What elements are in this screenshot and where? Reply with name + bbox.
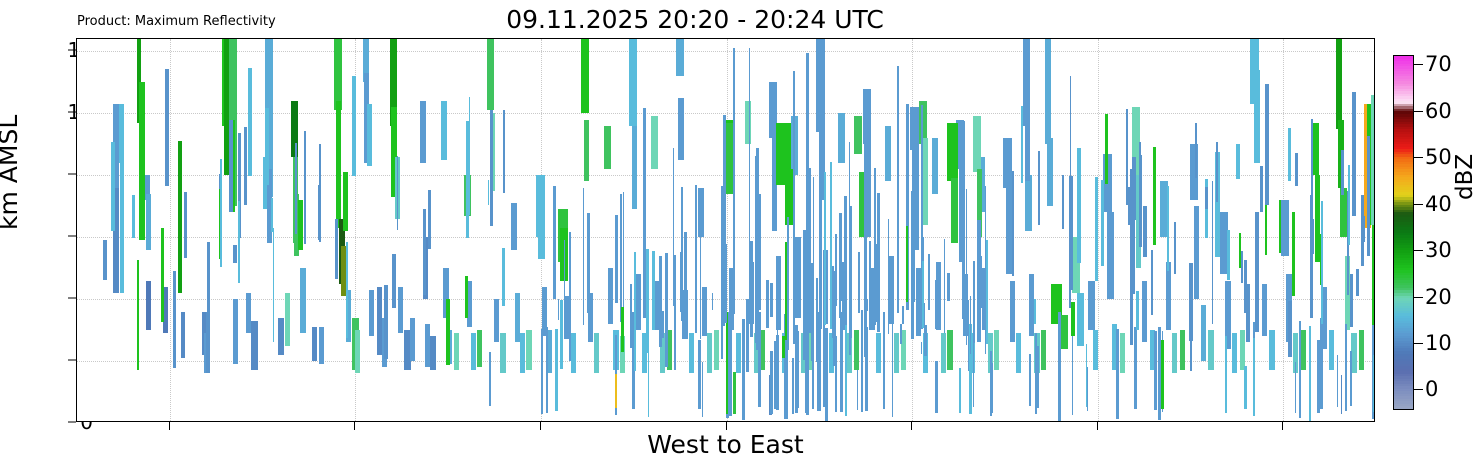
y-tick-mark xyxy=(68,236,76,237)
reflectivity-cell xyxy=(623,192,625,324)
reflectivity-cell xyxy=(538,188,544,259)
reflectivity-cell xyxy=(1077,293,1083,346)
colorbar-tick-mark xyxy=(1414,64,1423,65)
reflectivity-cell xyxy=(584,120,589,182)
reflectivity-cell xyxy=(785,242,787,339)
reflectivity-cell xyxy=(477,330,482,367)
reflectivity-cell xyxy=(889,256,894,324)
colorbar-tick-label: 30 xyxy=(1425,238,1452,262)
reflectivity-cell xyxy=(700,229,702,339)
reflectivity-cell xyxy=(1174,222,1176,274)
reflectivity-cell xyxy=(178,141,182,293)
reflectivity-cell xyxy=(487,39,493,110)
reflectivity-cell xyxy=(1310,195,1313,318)
reflectivity-cell xyxy=(420,101,426,163)
reflectivity-cell xyxy=(384,285,388,359)
reflectivity-cell xyxy=(1288,128,1291,182)
reflectivity-cell xyxy=(319,327,324,364)
reflectivity-cell xyxy=(665,253,668,367)
reflectivity-cell xyxy=(1070,76,1072,177)
reflectivity-cell xyxy=(1232,333,1237,373)
colorbar-tick-mark xyxy=(1414,297,1423,298)
reflectivity-cell xyxy=(248,68,252,176)
reflectivity-cell xyxy=(1012,171,1014,276)
reflectivity-cell xyxy=(928,254,929,310)
reflectivity-cell xyxy=(726,312,728,414)
reflectivity-cell xyxy=(770,283,773,318)
reflectivity-cell xyxy=(423,209,427,295)
reflectivity-cell xyxy=(397,156,398,230)
reflectivity-cell xyxy=(620,194,622,322)
reflectivity-cell xyxy=(787,217,789,301)
radar-cross-section-plot[interactable] xyxy=(76,38,1375,422)
colorbar-tick-mark xyxy=(1414,111,1423,112)
reflectivity-cell xyxy=(1036,346,1039,408)
reflectivity-cell xyxy=(1320,318,1323,409)
reflectivity-cell xyxy=(966,189,967,345)
reflectivity-cell xyxy=(615,215,618,302)
reflectivity-cell xyxy=(1034,299,1036,324)
reflectivity-cell xyxy=(695,185,697,333)
reflectivity-cell xyxy=(229,120,233,212)
reflectivity-cell xyxy=(935,280,938,330)
reflectivity-cell xyxy=(652,251,654,330)
reflectivity-cell xyxy=(1101,180,1103,266)
x-tick-mark xyxy=(354,422,355,430)
reflectivity-cell xyxy=(583,188,584,325)
reflectivity-cell xyxy=(560,300,563,369)
reflectivity-cell xyxy=(466,121,468,237)
reflectivity-cell xyxy=(844,196,846,326)
reflectivity-cell xyxy=(1260,166,1263,212)
reflectivity-cell xyxy=(346,242,348,338)
reflectivity-cell xyxy=(888,219,889,335)
reflectivity-cell xyxy=(441,101,447,160)
reflectivity-cell xyxy=(526,330,531,370)
reflectivity-cell xyxy=(494,299,499,342)
reflectivity-cell xyxy=(793,71,795,343)
reflectivity-cell xyxy=(184,192,186,258)
reflectivity-cell xyxy=(1142,281,1147,343)
reflectivity-cell xyxy=(902,306,904,324)
colorbar-tick-mark xyxy=(1414,157,1423,158)
reflectivity-cell xyxy=(1010,281,1015,343)
reflectivity-cell xyxy=(857,370,858,411)
reflectivity-cell xyxy=(1153,147,1155,245)
reflectivity-cell xyxy=(1095,177,1098,280)
reflectivity-cell xyxy=(1329,330,1334,370)
reflectivity-cell xyxy=(137,260,140,369)
reflectivity-cell xyxy=(858,252,860,313)
reflectivity-cell xyxy=(278,318,283,355)
reflectivity-cell xyxy=(702,287,707,337)
reflectivity-cell xyxy=(318,185,321,240)
reflectivity-cell xyxy=(587,213,590,313)
reflectivity-cell xyxy=(430,336,435,370)
reflectivity-cell xyxy=(244,127,246,204)
reflectivity-cell xyxy=(1236,144,1240,179)
reflectivity-cell xyxy=(1136,291,1139,330)
reflectivity-cell xyxy=(985,186,987,355)
reflectivity-cell xyxy=(838,113,844,163)
reflectivity-cell xyxy=(1058,312,1061,422)
reflectivity-cell xyxy=(935,361,938,412)
reflectivity-cell xyxy=(1069,176,1073,291)
reflectivity-cell xyxy=(900,324,903,344)
reflectivity-cell xyxy=(146,281,151,331)
reflectivity-cell xyxy=(973,261,975,343)
reflectivity-cell xyxy=(707,333,712,373)
reflectivity-cell xyxy=(1025,120,1030,182)
reflectivity-cell xyxy=(845,312,846,417)
reflectivity-cell xyxy=(746,299,749,372)
reflectivity-cell xyxy=(139,82,144,240)
reflectivity-cell xyxy=(673,148,674,306)
reflectivity-cell xyxy=(604,126,610,169)
reflectivity-cell xyxy=(1003,138,1012,188)
reflectivity-cell xyxy=(962,275,964,319)
reflectivity-cell xyxy=(1372,225,1375,330)
reflectivity-cell xyxy=(500,333,505,373)
reflectivity-cell xyxy=(725,123,733,194)
reflectivity-cell xyxy=(944,239,946,332)
reflectivity-cell xyxy=(947,123,957,182)
y-tick-mark xyxy=(68,174,76,175)
reflectivity-cell xyxy=(894,333,899,373)
x-tick-mark xyxy=(169,422,170,430)
x-tick-mark xyxy=(1097,422,1098,430)
reflectivity-cell xyxy=(1336,39,1342,129)
x-tick-mark xyxy=(540,422,541,430)
reflectivity-cell xyxy=(1190,304,1192,370)
x-tick-mark xyxy=(1282,422,1283,430)
reflectivity-cell xyxy=(1180,330,1185,370)
reflectivity-cell xyxy=(165,69,169,186)
reflectivity-cell xyxy=(119,104,124,163)
reflectivity-cell xyxy=(369,290,374,336)
reflectivity-cell xyxy=(795,237,800,318)
reflectivity-cell xyxy=(854,330,859,370)
reflectivity-cell xyxy=(1172,333,1177,373)
reflectivity-cell xyxy=(1262,284,1267,337)
reflectivity-cell xyxy=(146,194,151,250)
colorbar xyxy=(1393,55,1414,410)
reflectivity-cell xyxy=(806,355,808,412)
reflectivity-cell xyxy=(733,48,734,313)
reflectivity-cell xyxy=(1371,95,1375,225)
reflectivity-cell xyxy=(1216,142,1218,201)
reflectivity-cell xyxy=(1241,251,1243,283)
reflectivity-cell xyxy=(1295,362,1297,413)
reflectivity-cell xyxy=(446,299,450,366)
reflectivity-cell xyxy=(161,228,164,322)
reflectivity-cell xyxy=(813,177,814,299)
reflectivity-cell xyxy=(689,333,694,373)
reflectivity-cell xyxy=(1255,212,1259,332)
reflectivity-cell xyxy=(581,39,589,113)
reflectivity-cell xyxy=(569,232,570,360)
reflectivity-cell xyxy=(849,142,850,310)
reflectivity-cell xyxy=(833,271,836,366)
reflectivity-cell xyxy=(684,232,687,328)
reflectivity-cell xyxy=(285,293,290,346)
reflectivity-cell xyxy=(103,240,107,280)
reflectivity-cell xyxy=(947,330,952,370)
reflectivity-cell xyxy=(1373,355,1375,412)
reflectivity-cell xyxy=(759,194,761,310)
reflectivity-cell xyxy=(990,351,992,417)
y-tick-mark xyxy=(68,298,76,299)
reflectivity-cell xyxy=(1208,330,1213,370)
reflectivity-cell xyxy=(1240,330,1245,370)
reflectivity-cell xyxy=(1093,330,1098,370)
reflectivity-cell xyxy=(712,293,713,310)
reflectivity-cell xyxy=(698,340,701,409)
reflectivity-cell xyxy=(830,162,832,329)
reflectivity-cell xyxy=(816,39,825,132)
reflectivity-cell xyxy=(736,333,741,373)
reflectivity-cell xyxy=(1047,138,1052,206)
reflectivity-cell xyxy=(206,312,210,373)
reflectivity-cell xyxy=(910,107,919,150)
reflectivity-cell xyxy=(876,244,878,322)
reflectivity-cell xyxy=(454,333,459,370)
reflectivity-cell xyxy=(994,330,999,370)
reflectivity-cell xyxy=(932,138,938,194)
reflectivity-cell xyxy=(541,329,543,413)
reflectivity-cell xyxy=(1035,333,1037,413)
reflectivity-cell xyxy=(968,300,969,371)
reflectivity-cell xyxy=(678,98,683,160)
reflectivity-cell xyxy=(1295,153,1297,186)
reflectivity-cell xyxy=(1045,39,1051,144)
reflectivity-cell xyxy=(1350,274,1353,328)
reflectivity-cell xyxy=(864,132,867,357)
colorbar-tick-label: 10 xyxy=(1425,331,1452,355)
reflectivity-cell xyxy=(547,330,552,373)
reflectivity-cell xyxy=(959,368,962,414)
reflectivity-cell xyxy=(615,374,617,408)
x-tick-mark xyxy=(911,422,912,430)
reflectivity-cell xyxy=(854,116,862,153)
reflectivity-cell xyxy=(923,138,928,225)
reflectivity-cell xyxy=(1151,250,1153,314)
reflectivity-cell xyxy=(1161,340,1164,409)
reflectivity-cell xyxy=(428,190,432,249)
colorbar-tick-label: 50 xyxy=(1425,145,1452,169)
reflectivity-cell xyxy=(816,278,818,362)
reflectivity-cell xyxy=(410,318,415,361)
reflectivity-cell xyxy=(906,226,908,302)
reflectivity-cell xyxy=(1254,70,1260,163)
reflectivity-cell xyxy=(1134,327,1137,409)
reflectivity-cell xyxy=(1126,109,1128,205)
reflectivity-cell xyxy=(1359,330,1364,370)
reflectivity-cell xyxy=(367,104,372,166)
reflectivity-cell xyxy=(295,143,297,233)
reflectivity-cell xyxy=(335,219,338,279)
colorbar-tick-mark xyxy=(1414,250,1423,251)
colorbar-tick-mark xyxy=(1414,389,1423,390)
reflectivity-cell xyxy=(1279,200,1282,253)
reflectivity-cell xyxy=(1025,175,1031,231)
reflectivity-cell xyxy=(1060,315,1068,349)
reflectivity-cell xyxy=(749,288,752,322)
reflectivity-cell xyxy=(352,76,355,176)
reflectivity-cell xyxy=(742,319,745,420)
reflectivity-cell xyxy=(465,276,469,318)
reflectivity-cell xyxy=(553,186,556,299)
reflectivity-cell xyxy=(1374,94,1375,214)
reflectivity-cell xyxy=(1309,326,1311,420)
reflectivity-cell xyxy=(1362,216,1365,242)
reflectivity-cell xyxy=(1006,188,1012,275)
reflectivity-cell xyxy=(819,135,822,330)
reflectivity-cell xyxy=(555,329,558,412)
reflectivity-cell xyxy=(749,48,751,322)
reflectivity-cell xyxy=(300,268,305,333)
reflectivity-cell xyxy=(1265,84,1269,205)
reflectivity-cell xyxy=(1038,151,1040,225)
reflectivity-cell xyxy=(233,245,237,264)
reflectivity-cell xyxy=(777,305,778,339)
reflectivity-cell xyxy=(723,115,725,299)
x-tick-mark xyxy=(726,422,727,430)
reflectivity-cell xyxy=(861,310,863,348)
reflectivity-cell xyxy=(1367,136,1370,256)
reflectivity-cell xyxy=(1166,262,1171,330)
reflectivity-cell xyxy=(503,110,505,193)
reflectivity-cell xyxy=(1107,212,1113,299)
reflectivity-cell xyxy=(1288,301,1291,357)
reflectivity-cell xyxy=(636,274,641,330)
reflectivity-cell xyxy=(651,116,657,169)
reflectivity-cell xyxy=(630,284,633,348)
reflectivity-cell xyxy=(634,252,636,371)
reflectivity-cell xyxy=(1356,269,1359,296)
reflectivity-cell xyxy=(111,142,115,231)
y-tick-mark xyxy=(68,360,76,361)
reflectivity-cell xyxy=(343,172,348,231)
reflectivity-cell xyxy=(1062,175,1065,228)
reflectivity-cell xyxy=(951,178,957,243)
colorbar-tick-mark xyxy=(1414,204,1423,205)
x-axis-label: West to East xyxy=(76,430,1375,459)
reflectivity-cell xyxy=(181,312,185,358)
reflectivity-cell xyxy=(1154,331,1157,410)
reflectivity-cell xyxy=(770,351,773,413)
reflectivity-cell xyxy=(824,172,826,325)
reflectivity-cell xyxy=(776,335,779,411)
reflectivity-cell xyxy=(511,203,517,249)
reflectivity-cell xyxy=(298,200,303,250)
reflectivity-cell xyxy=(1350,351,1352,407)
reflectivity-cell xyxy=(1348,165,1350,246)
reflectivity-cell xyxy=(398,287,403,333)
reflectivity-cell xyxy=(839,213,841,301)
reflectivity-cell xyxy=(608,268,613,324)
reflectivity-cell xyxy=(1246,284,1250,342)
reflectivity-cell xyxy=(733,372,736,414)
reflectivity-cell xyxy=(1341,375,1342,415)
reflectivity-cell xyxy=(489,352,491,406)
reflectivity-cell xyxy=(970,296,971,355)
reflectivity-cell xyxy=(632,126,637,210)
reflectivity-cell xyxy=(490,110,493,226)
colorbar-tick-label: 70 xyxy=(1425,52,1452,76)
reflectivity-cell xyxy=(1120,333,1125,373)
reflectivity-cell xyxy=(1341,150,1344,194)
reflectivity-cell xyxy=(1321,201,1323,324)
reflectivity-cells xyxy=(77,39,1374,421)
reflectivity-cell xyxy=(756,148,759,304)
colorbar-tick-label: 40 xyxy=(1425,192,1452,216)
reflectivity-cell xyxy=(973,116,981,172)
reflectivity-cell xyxy=(488,180,489,205)
reflectivity-cell xyxy=(1337,355,1338,407)
reflectivity-cell xyxy=(1239,233,1241,269)
colorbar-tick-mark xyxy=(1414,343,1423,344)
reflectivity-cell xyxy=(1225,336,1226,413)
reflectivity-cell xyxy=(1253,338,1255,417)
reflectivity-cell xyxy=(1139,155,1142,247)
reflectivity-cell xyxy=(676,39,684,76)
reflectivity-cell xyxy=(885,126,891,182)
reflectivity-cell xyxy=(892,317,894,417)
reflectivity-cell xyxy=(1167,186,1169,271)
reflectivity-cell xyxy=(714,330,719,370)
reflectivity-cell xyxy=(1116,329,1119,418)
colorbar-segment xyxy=(1394,406,1413,409)
reflectivity-cell xyxy=(766,280,769,328)
reflectivity-cell xyxy=(1352,92,1356,215)
reflectivity-cell xyxy=(263,157,267,210)
reflectivity-cell xyxy=(1087,367,1088,411)
reflectivity-cell xyxy=(594,333,599,373)
reflectivity-cell xyxy=(1244,366,1247,410)
reflectivity-cell xyxy=(1292,212,1296,297)
reflectivity-cell xyxy=(809,168,811,333)
reflectivity-cell xyxy=(502,248,505,306)
reflectivity-cell xyxy=(520,333,525,373)
reflectivity-cell xyxy=(471,333,476,370)
reflectivity-cell xyxy=(921,342,922,354)
reflectivity-cell xyxy=(173,271,176,368)
y-axis-label: km AMSL xyxy=(0,115,23,230)
reflectivity-cell xyxy=(1023,39,1031,126)
reflectivity-cell xyxy=(251,321,257,371)
reflectivity-cell xyxy=(207,242,210,314)
reflectivity-cell xyxy=(1105,114,1108,184)
y-tick-mark xyxy=(68,422,76,423)
reflectivity-cell xyxy=(980,256,982,308)
reflectivity-cell xyxy=(922,261,924,327)
reflectivity-cell xyxy=(1016,333,1021,373)
reflectivity-cell xyxy=(1227,230,1230,280)
reflectivity-cell xyxy=(1301,330,1306,370)
reflectivity-cell xyxy=(355,330,360,373)
reflectivity-cell xyxy=(947,273,950,301)
colorbar-tick-label: 0 xyxy=(1425,377,1438,401)
reflectivity-cell xyxy=(392,254,396,308)
reflectivity-cell xyxy=(911,191,914,339)
reflectivity-cell xyxy=(546,327,548,413)
reflectivity-cell xyxy=(674,255,676,370)
reflectivity-cell xyxy=(941,333,946,373)
reflectivity-cell xyxy=(729,312,731,417)
reflectivity-cell xyxy=(1205,187,1208,208)
reflectivity-cell xyxy=(238,201,240,283)
